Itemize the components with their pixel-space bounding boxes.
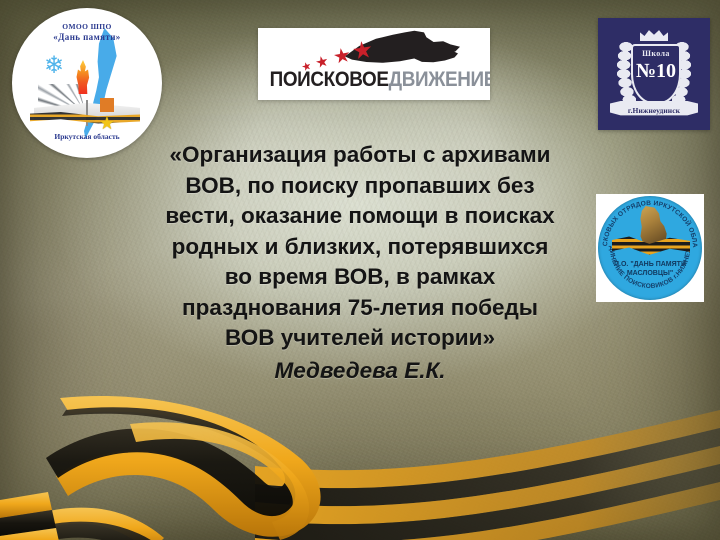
dan-pamyati-badge: ОМОО ШПО «Дань памяти» ❄ ★ Иркутская обл… — [12, 8, 162, 158]
wordmark-part-dvizhenie: ДВИЖЕНИЕ — [389, 68, 490, 91]
badge-title-line1: ОМОО ШПО — [12, 22, 162, 32]
emblem-inner-line1: П.О. "ДАНЬ ПАМЯТИ — [602, 260, 698, 269]
snowflake-icon: ❄ — [42, 54, 66, 78]
logo-wordmark: ПОИСКОВОЕДВИЖЕНИЕРОССИИ — [270, 68, 479, 92]
poiskovoe-dvizhenie-rossii-logo: ПОИСКОВОЕДВИЖЕНИЕРОССИИ — [258, 28, 490, 100]
school-10-emblem: Школа №10 г.Нижнеудинск — [598, 18, 710, 130]
author-name: Медведева Е.К. — [110, 356, 610, 387]
shield-icon: Школа №10 — [631, 44, 681, 104]
emblem-inner-line2: МАСЛОВЦЫ" — [602, 269, 698, 278]
badge-title: ОМОО ШПО «Дань памяти» — [12, 22, 162, 42]
title-line: во время ВОВ, в рамках — [110, 262, 610, 293]
emblem-inner-label: П.О. "ДАНЬ ПАМЯТИ МАСЛОВЦЫ" — [602, 260, 698, 278]
presentation-slide: ОМОО ШПО «Дань памяти» ❄ ★ Иркутская обл… — [0, 0, 720, 540]
school-number: №10 — [633, 60, 679, 83]
crown-icon — [640, 28, 668, 41]
maslovtsy-search-unit-emblem: ПОИСКОВЫХ ОТРЯДОВ ИРКУТСКОЙ ОБЛАСТИ ОБЪЕ… — [596, 194, 704, 302]
slide-title-block: «Организация работы с архивами ВОВ, по п… — [110, 140, 610, 386]
title-line: «Организация работы с архивами — [110, 140, 610, 171]
badge-title-line2: «Дань памяти» — [12, 32, 162, 42]
title-line: празднования 75-летия победы — [110, 293, 610, 324]
title-line: ВОВ, по поиску пропавших без — [110, 171, 610, 202]
title-line: родных и близких, потерявшихся — [110, 232, 610, 263]
title-line: ВОВ учителей истории» — [110, 323, 610, 354]
school-word-label: Школа — [633, 49, 679, 58]
gold-star-icon: ★ — [98, 114, 116, 132]
wordmark-part-poiskovoe: ПОИСКОВОЕ — [270, 68, 389, 91]
school-city-label: г.Нижнеудинск — [610, 106, 698, 115]
title-line: вести, оказание помощи в поисках — [110, 201, 610, 232]
memorial-block-icon — [100, 98, 114, 112]
